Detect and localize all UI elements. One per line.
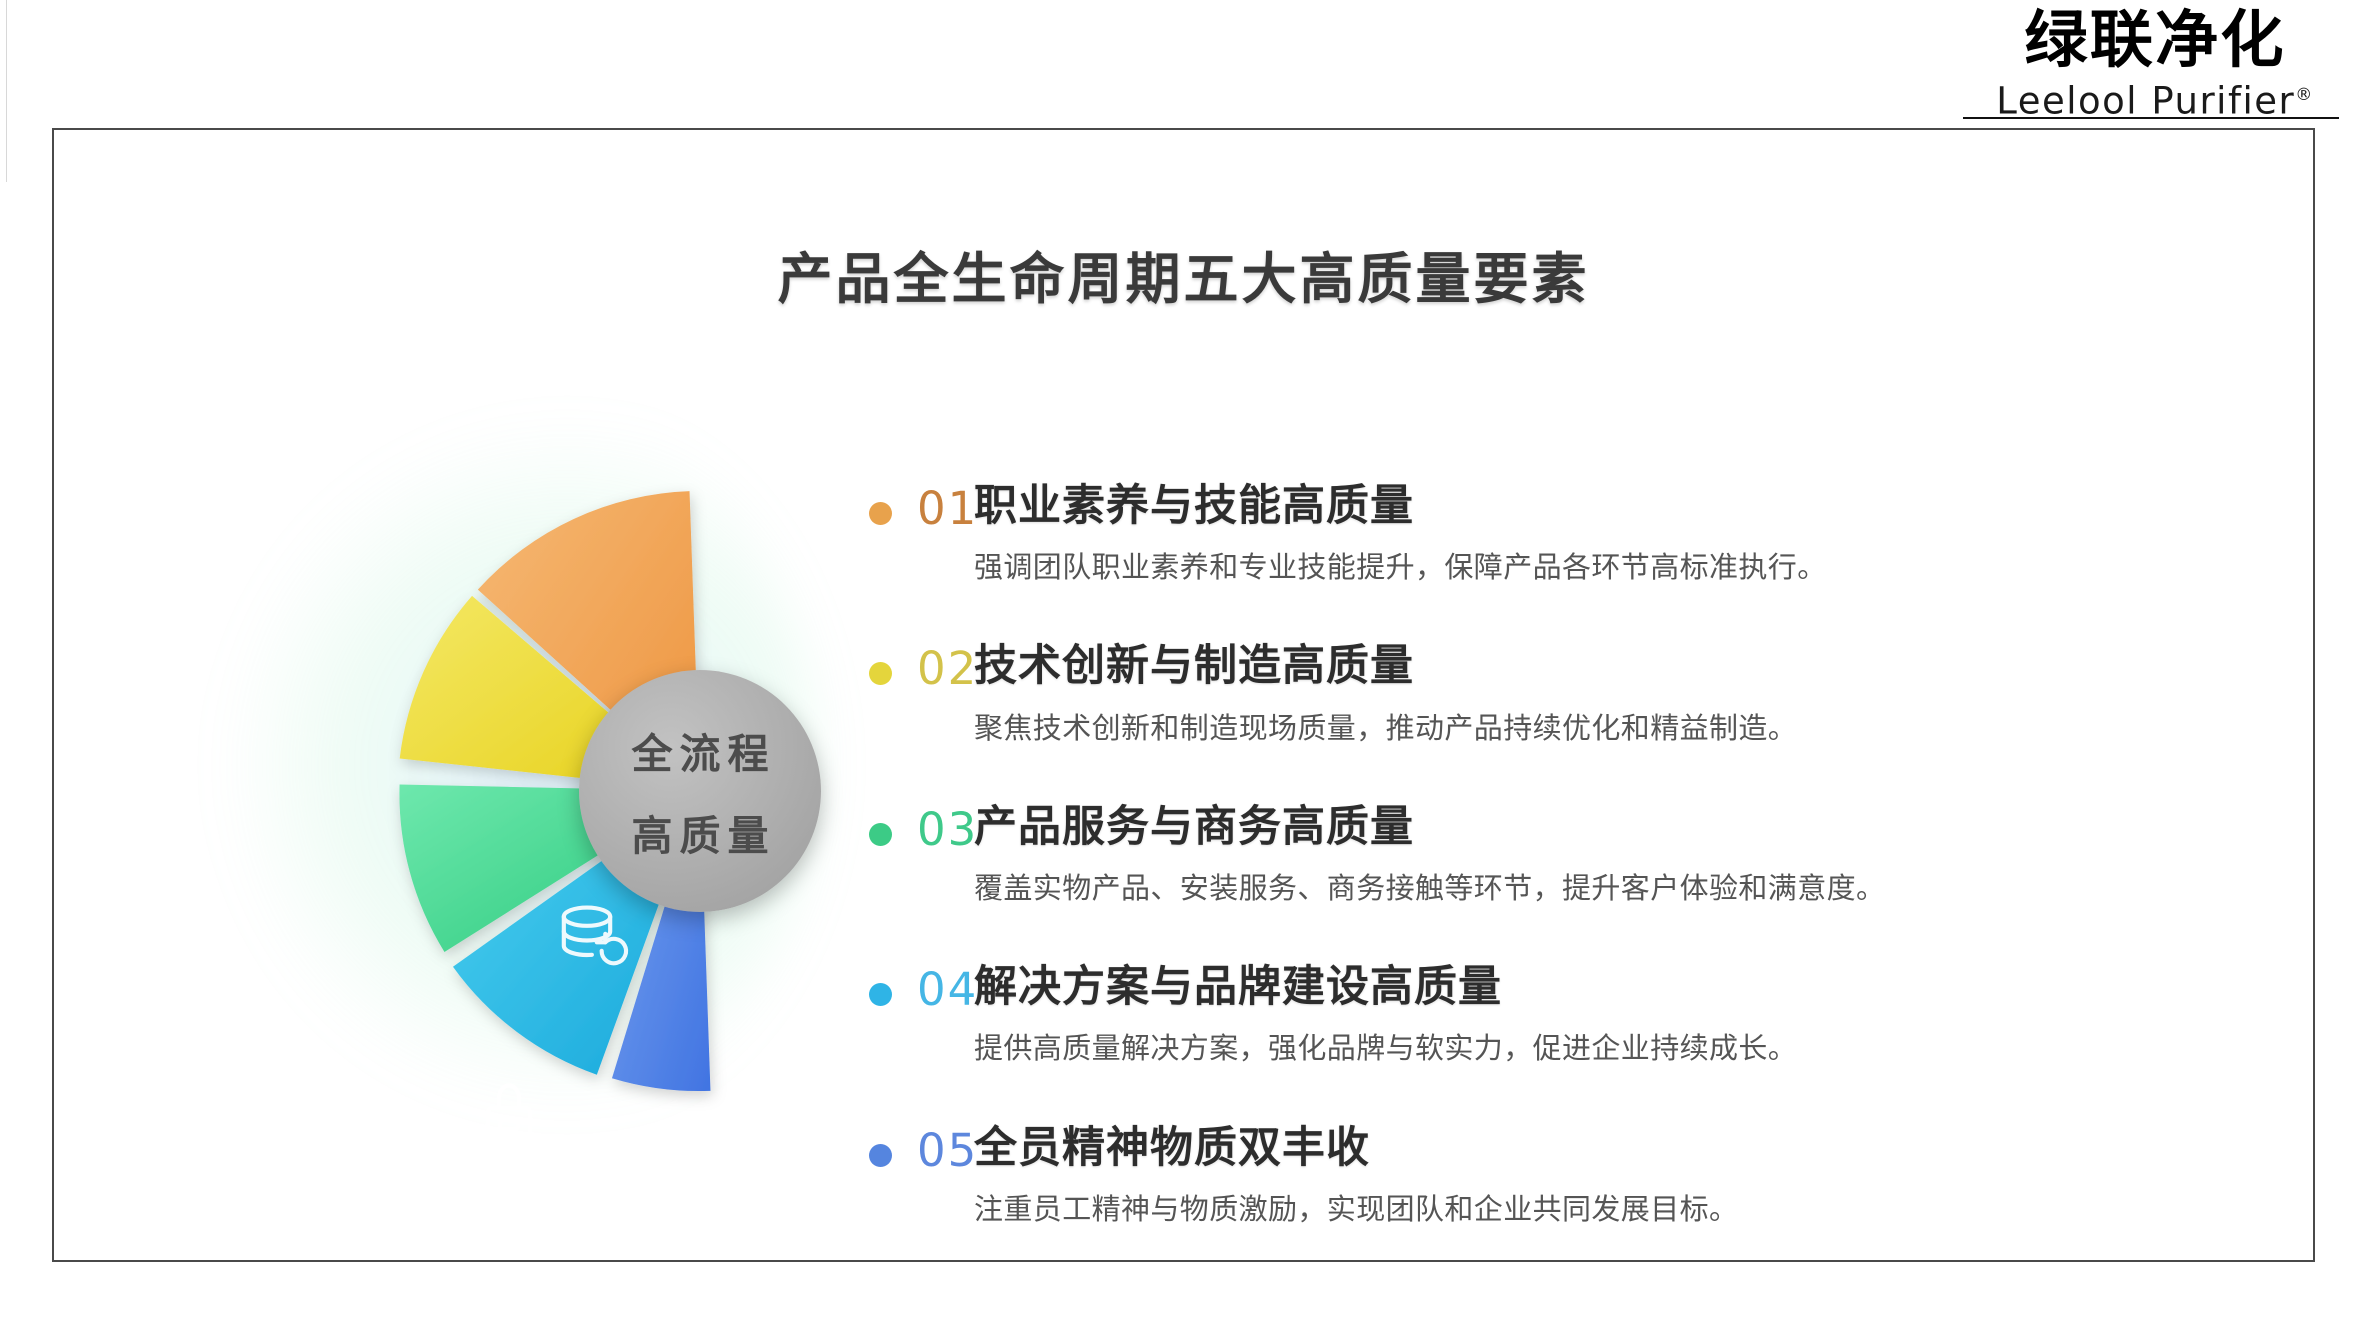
- item-description: 注重员工精神与物质激励，实现团队和企业共同发展目标。: [974, 1191, 2254, 1227]
- item-description: 提供高质量解决方案，强化品牌与软实力，促进企业持续成长。: [974, 1030, 2254, 1066]
- item-title: 职业素养与技能高质量: [974, 482, 2254, 530]
- item-description: 覆盖实物产品、安装服务、商务接触等环节，提升客户体验和满意度。: [974, 870, 2254, 906]
- fan-diagram: 全流程 高质量: [179, 355, 879, 1175]
- lock-icon: [488, 1086, 531, 1141]
- slide-canvas: 绿联净化 Leelool Purifier® 不做应付验收的产品 产品全生命周期…: [0, 0, 2355, 1325]
- brand-name-cn: 绿联净化: [1982, 8, 2329, 71]
- item-description: 强调团队职业素养和专业技能提升，保障产品各环节高标准执行。: [974, 549, 2254, 585]
- item-title: 技术创新与制造高质量: [974, 642, 2254, 690]
- item-number: 05: [917, 1124, 978, 1177]
- list-item[interactable]: 04 解决方案与品牌建设高质量 提供高质量解决方案，强化品牌与软实力，促进企业持…: [854, 963, 2254, 1066]
- list-item[interactable]: 03 产品服务与商务高质量 覆盖实物产品、安装服务、商务接触等环节，提升客户体验…: [854, 803, 2254, 906]
- item-description: 聚焦技术创新和制造现场质量，推动产品持续优化和精益制造。: [974, 710, 2254, 746]
- brand-divider-rule: [1963, 117, 2339, 119]
- item-title: 解决方案与品牌建设高质量: [974, 963, 2254, 1011]
- item-number: 01: [917, 482, 978, 535]
- registered-mark-icon: ®: [2295, 85, 2314, 105]
- bullet-icon: [869, 983, 892, 1006]
- item-title: 全员精神物质双丰收: [974, 1124, 2254, 1172]
- elements-list: 01 职业素养与技能高质量 强调团队职业素养和专业技能提升，保障产品各环节高标准…: [854, 482, 2254, 1227]
- item-number: 02: [917, 642, 978, 695]
- brand-name-en: Leelool Purifier®: [1985, 73, 2325, 123]
- list-item[interactable]: 01 职业素养与技能高质量 强调团队职业素养和专业技能提升，保障产品各环节高标准…: [854, 482, 2254, 585]
- fan-hub: 全流程 高质量: [579, 670, 821, 912]
- slide-frame: 产品全生命周期五大高质量要素: [52, 128, 2315, 1262]
- brand-name-en-text: Leelool Purifier: [1996, 80, 2295, 123]
- left-edge-rule: [6, 0, 7, 182]
- bullet-icon: [869, 502, 892, 525]
- bullet-icon: [869, 662, 892, 685]
- page-title: 产品全生命周期五大高质量要素: [54, 234, 2313, 314]
- list-item[interactable]: 05 全员精神物质双丰收 注重员工精神与物质激励，实现团队和企业共同发展目标。: [854, 1124, 2254, 1227]
- hub-line-2: 高质量: [625, 802, 776, 862]
- list-item[interactable]: 02 技术创新与制造高质量 聚焦技术创新和制造现场质量，推动产品持续优化和精益制…: [854, 642, 2254, 745]
- item-number: 04: [917, 963, 978, 1016]
- brand-name-en-row: Leelool Purifier®: [1985, 73, 2325, 121]
- item-title: 产品服务与商务高质量: [974, 803, 2254, 851]
- bullet-icon: [869, 1144, 892, 1167]
- hub-line-1: 全流程: [625, 720, 776, 780]
- bullet-icon: [869, 823, 892, 846]
- item-number: 03: [917, 803, 978, 856]
